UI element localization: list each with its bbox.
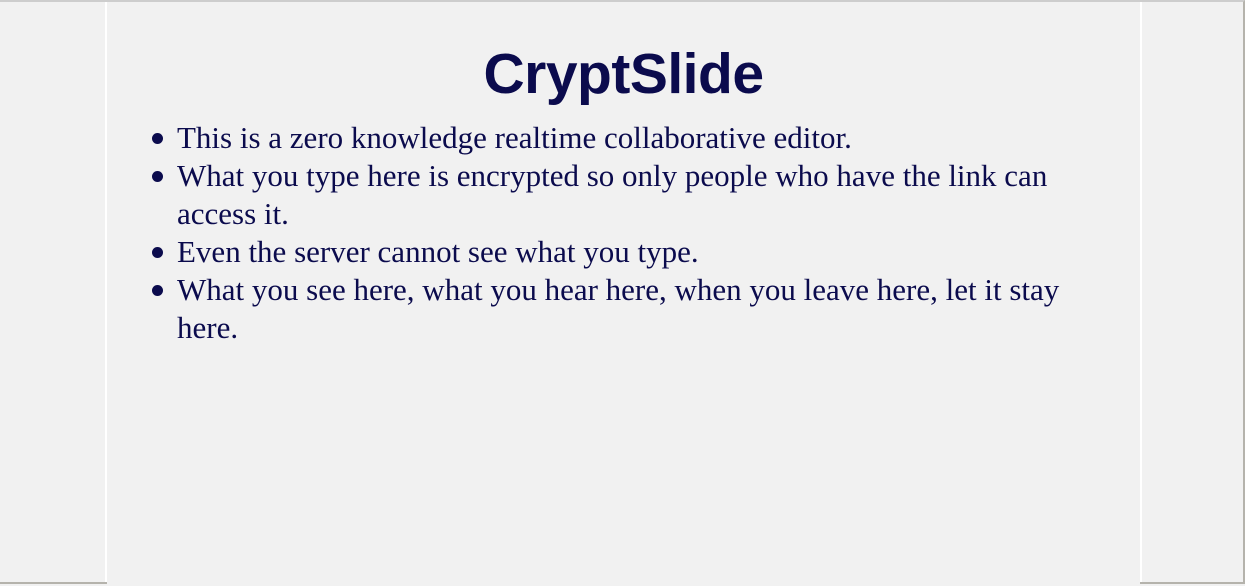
- slide-bullet-item[interactable]: What you see here, what you hear here, w…: [107, 271, 1140, 347]
- slide-gutter-left: [0, 2, 105, 582]
- slide-page-edge-right: [1140, 2, 1142, 582]
- slide-bullet-item[interactable]: This is a zero knowledge realtime collab…: [107, 119, 1140, 157]
- slide-editor-viewport: CryptSlide This is a zero knowledge real…: [0, 0, 1245, 584]
- slide-bullet-list[interactable]: This is a zero knowledge realtime collab…: [107, 119, 1140, 347]
- slide-title[interactable]: CryptSlide: [107, 2, 1140, 103]
- slide-bullet-item[interactable]: Even the server cannot see what you type…: [107, 233, 1140, 271]
- slide-gutter-right: [1140, 2, 1243, 582]
- slide-bullet-item[interactable]: What you type here is encrypted so only …: [107, 157, 1140, 233]
- slide-page[interactable]: CryptSlide This is a zero knowledge real…: [107, 2, 1140, 586]
